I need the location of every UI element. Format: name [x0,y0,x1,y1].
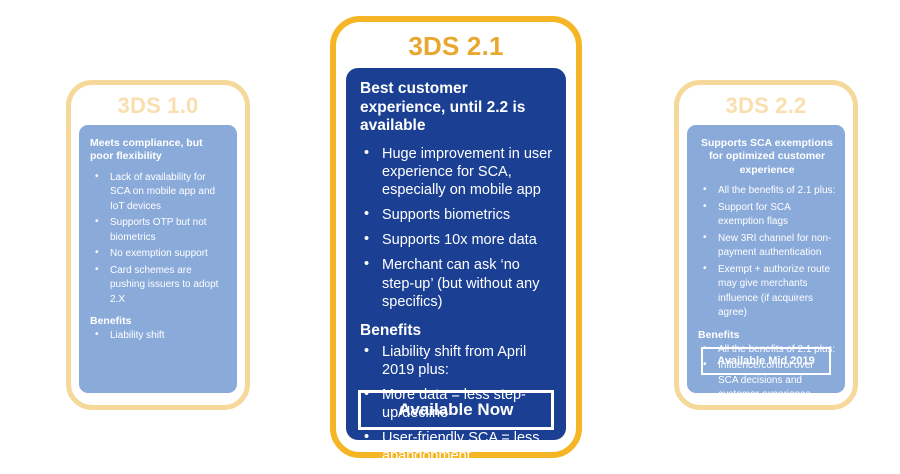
card-3ds-2-2: 3DS 2.2 Supports SCA exemptions for opti… [674,80,858,410]
availability-badge-3ds-2-2: Available Mid 2019 [701,347,831,375]
panel-3ds-2-1: Best customer experience, until 2.2 is a… [346,68,566,440]
list-item: User-friendly SCA = less abandonment [358,429,554,465]
panel-3ds-2-2: Supports SCA exemptions for optimized cu… [687,125,845,393]
panel-heading-3ds-2-2: Supports SCA exemptions for optimized cu… [696,137,836,177]
benefits-label-3ds-2-1: Benefits [360,322,554,340]
panel-heading-3ds-2-1: Best customer experience, until 2.2 is a… [358,80,554,136]
panel-heading-3ds-1-0: Meets compliance, but poor flexibility [88,137,228,164]
list-item: Liability shift [88,329,228,344]
feature-list-3ds-2-2: All the benefits of 2.1 plus: Support fo… [696,184,836,321]
list-item: Huge improvement in user experience for … [358,145,554,199]
availability-badge-3ds-2-1: Available Now [358,390,554,430]
list-item: New 3RI channel for non-payment authenti… [696,232,836,261]
list-item: Lack of availability for SCA on mobile a… [88,171,228,215]
card-3ds-2-1: 3DS 2.1 Best customer experience, until … [330,16,582,458]
list-item: Supports OTP but not biometrics [88,216,228,245]
panel-3ds-1-0: Meets compliance, but poor flexibility L… [79,125,237,393]
list-item: Supports 10x more data [358,231,554,249]
card-title-3ds-2-2: 3DS 2.2 [679,85,853,117]
list-item: Exempt + authorize route may give mercha… [696,263,836,321]
list-item: Card schemes are pushing issuers to adop… [88,264,228,308]
feature-list-3ds-1-0: Lack of availability for SCA on mobile a… [88,171,228,308]
list-item: All the benefits of 2.1 plus: [696,184,836,199]
list-item: No exemption support [88,247,228,262]
benefits-label-3ds-2-2: Benefits [698,329,836,341]
card-title-3ds-1-0: 3DS 1.0 [71,85,245,117]
feature-list-3ds-2-1: Huge improvement in user experience for … [358,145,554,311]
benefits-list-3ds-1-0: Liability shift [88,329,228,344]
list-item: Supports biometrics [358,206,554,224]
card-title-3ds-2-1: 3DS 2.1 [336,22,576,59]
card-3ds-1-0: 3DS 1.0 Meets compliance, but poor flexi… [66,80,250,410]
list-item: Support for SCA exemption flags [696,201,836,230]
benefits-label-3ds-1-0: Benefits [90,315,228,327]
list-item: Liability shift from April 2019 plus: [358,343,554,379]
list-item: Merchant can ask ‘no step-up’ (but witho… [358,256,554,310]
slide-canvas: 3DS 1.0 Meets compliance, but poor flexi… [0,0,900,474]
